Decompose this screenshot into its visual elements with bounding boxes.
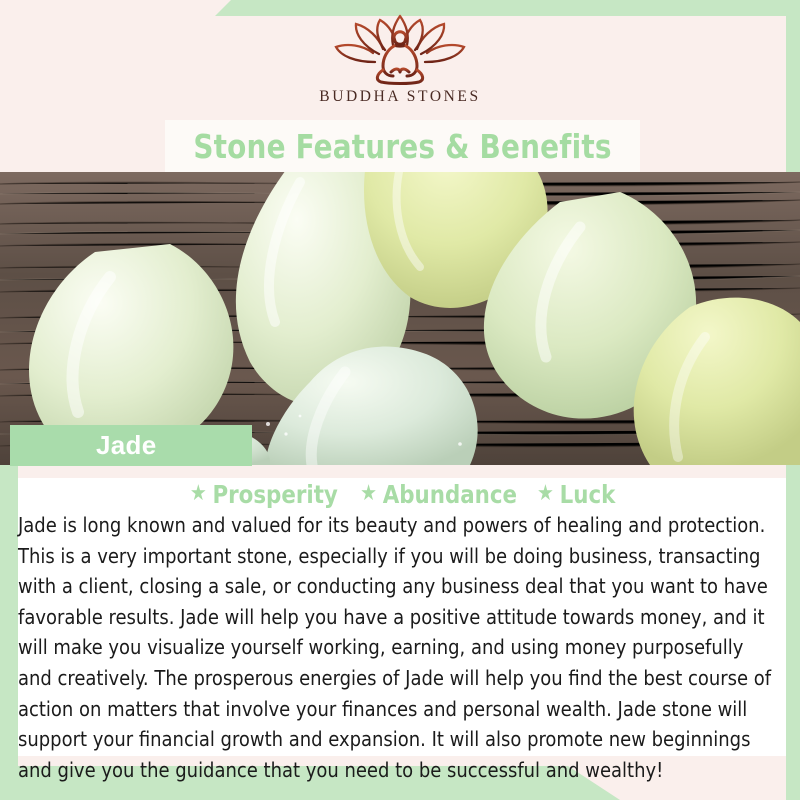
stone-name-band: Jade <box>10 425 252 466</box>
panel-top-strip <box>18 466 786 478</box>
star-icon: ★ <box>360 483 377 505</box>
benefits-row: ★ Prosperity ★ Abundance ★ Luck <box>18 478 786 510</box>
brand-wordmark: BUDDHA STONES <box>319 88 480 106</box>
stone-name: Jade <box>10 430 156 461</box>
stone-info-card: BUDDHA STONES Stone Features & Benefits <box>0 0 800 800</box>
benefit-abundance: ★ Abundance <box>360 480 517 509</box>
benefit-label: Luck <box>560 480 616 509</box>
title-banner: Stone Features & Benefits <box>165 120 640 172</box>
star-icon: ★ <box>537 483 554 505</box>
page-title: Stone Features & Benefits <box>193 127 611 166</box>
stone-photo <box>0 172 800 465</box>
description-panel: ★ Prosperity ★ Abundance ★ Luck Jade is … <box>18 466 786 766</box>
brand-logo: BUDDHA STONES <box>0 14 800 114</box>
stone-description: Jade is long known and valued for its be… <box>18 510 778 785</box>
benefit-prosperity: ★ Prosperity <box>190 480 338 509</box>
benefit-label: Prosperity <box>213 480 338 509</box>
benefit-luck: ★ Luck <box>537 480 615 509</box>
jade-stones-illustration <box>0 172 800 465</box>
lotus-meditation-icon <box>325 14 475 86</box>
star-icon: ★ <box>190 483 207 505</box>
benefit-label: Abundance <box>383 480 517 509</box>
